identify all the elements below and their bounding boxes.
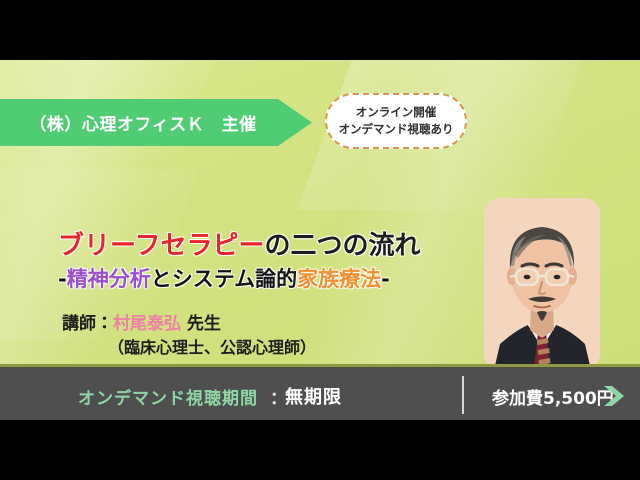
price-label: 参加費5,500円 <box>492 384 614 409</box>
subtitle-dash-right: - <box>381 267 390 291</box>
seminar-slide: （株）心理オフィスＫ 主催 オンライン開催 オンデマンド視聴あり <box>0 60 640 420</box>
chevron-right-icon <box>603 385 629 407</box>
title-highlight: ブリーフセラピー <box>58 231 264 261</box>
subtitle-part-connector: とシステム論的 <box>151 267 297 291</box>
lecturer-line: 講師：村尾泰弘 先生 <box>62 309 221 334</box>
online-format-badge: オンライン開催 オンデマンド視聴あり <box>325 93 467 149</box>
subtitle-part-psychoanalysis: 精神分析 <box>67 267 151 291</box>
letterbox-top <box>0 0 640 60</box>
viewing-period-value: 無期限 <box>285 383 342 409</box>
host-ribbon: （株）心理オフィスＫ 主催 <box>0 99 312 146</box>
host-ribbon-label: （株）心理オフィスＫ 主催 <box>29 110 256 135</box>
lecturer-prefix: 講師： <box>62 314 113 334</box>
subtitle-dash-left: - <box>58 267 67 291</box>
viewing-period-label: オンデマンド視聴期間 <box>78 384 258 409</box>
letterbox-bottom <box>0 420 640 480</box>
lecturer-credentials: （臨床心理士、公認心理師） <box>108 334 316 358</box>
subtitle-part-family-therapy: 家族療法 <box>297 267 381 291</box>
lecturer-name: 村尾泰弘 <box>113 314 181 334</box>
lecturer-portrait-photo <box>484 198 600 370</box>
seminar-title-main: ブリーフセラピーの二つの流れ <box>58 230 458 262</box>
slide-stage: （株）心理オフィスＫ 主催 オンライン開催 オンデマンド視聴あり <box>0 0 640 480</box>
seminar-title-sub: -精神分析とシステム論的家族療法- <box>58 266 458 293</box>
online-badge-line-1: オンライン開催 <box>356 104 437 121</box>
title-rest: の二つの流れ <box>264 231 420 261</box>
bottom-info-bar: オンデマンド視聴期間 ： 無期限 参加費5,500円 <box>0 364 640 420</box>
online-badge-line-2: オンデマンド視聴あり <box>339 121 454 138</box>
bottom-bar-divider <box>462 376 464 414</box>
lecturer-honorific: 先生 <box>181 314 221 334</box>
